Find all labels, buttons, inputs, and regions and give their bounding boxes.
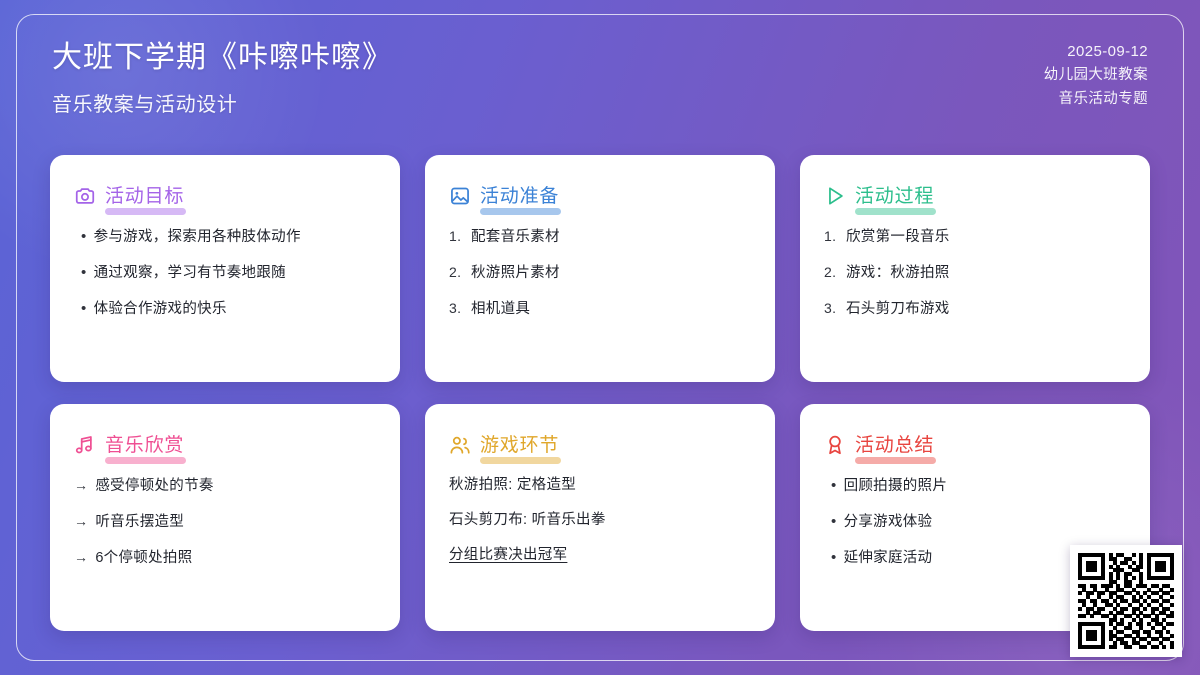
card-item-list: 秋游拍照: 定格造型石头剪刀布: 听音乐出拳分组比赛决出冠军 — [449, 475, 751, 566]
qr-code-icon — [1078, 553, 1174, 649]
list-item: →听音乐摆造型 — [74, 511, 376, 534]
list-item-text: 秋游照片素材 — [471, 263, 560, 285]
music-note-icon — [74, 434, 96, 456]
card-item-list: •参与游戏，探索用各种肢体动作•通过观察，学习有节奏地跟随•体验合作游戏的快乐 — [74, 226, 376, 320]
list-item: 2.秋游照片素材 — [449, 262, 751, 285]
award-icon — [824, 434, 846, 456]
list-marker: • — [74, 226, 87, 249]
camera-icon — [74, 185, 96, 207]
list-marker: 1. — [449, 226, 464, 247]
list-item: •回顾拍摄的照片 — [824, 475, 1126, 498]
list-item: 1.配套音乐素材 — [449, 226, 751, 249]
card-item-list: 1.配套音乐素材2.秋游照片素材3.相机道具 — [449, 226, 751, 320]
page-title: 大班下学期《咔嚓咔嚓》 — [52, 40, 393, 77]
image-icon — [449, 185, 471, 207]
list-item-text: 通过观察，学习有节奏地跟随 — [94, 263, 286, 285]
list-item: •分享游戏体验 — [824, 511, 1126, 534]
list-item: 分组比赛决出冠军 — [449, 545, 751, 567]
list-marker: 3. — [449, 298, 464, 319]
list-marker: → — [74, 511, 88, 532]
card-header: 游戏环节 — [449, 430, 751, 459]
list-item-text: 体验合作游戏的快乐 — [94, 299, 227, 321]
card-game-section[interactable]: 游戏环节秋游拍照: 定格造型石头剪刀布: 听音乐出拳分组比赛决出冠军 — [425, 404, 775, 631]
list-item-text: 分享游戏体验 — [844, 512, 933, 534]
qr-code-panel[interactable] — [1070, 545, 1182, 657]
card-title: 活动总结 — [855, 430, 934, 459]
card-grid: 活动目标•参与游戏，探索用各种肢体动作•通过观察，学习有节奏地跟随•体验合作游戏… — [50, 155, 1150, 631]
card-header: 活动目标 — [74, 181, 376, 210]
list-item-text: 感受停顿处的节奏 — [95, 476, 213, 498]
list-item-text: 石头剪刀布: 听音乐出拳 — [449, 510, 606, 532]
page-subtitle: 音乐教案与活动设计 — [52, 88, 393, 117]
list-item: 3.相机道具 — [449, 298, 751, 321]
list-item-text: 相机道具 — [471, 299, 530, 321]
list-marker: • — [824, 547, 837, 570]
title-block: 大班下学期《咔嚓咔嚓》 音乐教案与活动设计 — [52, 40, 393, 117]
list-marker: 3. — [824, 298, 839, 319]
list-item-text: 6个停顿处拍照 — [95, 548, 192, 570]
list-marker: • — [74, 262, 87, 285]
list-item-text: 分组比赛决出冠军 — [449, 545, 567, 567]
card-title: 活动准备 — [480, 181, 559, 210]
list-item: →感受停顿处的节奏 — [74, 475, 376, 498]
users-icon — [449, 434, 471, 456]
list-marker: • — [824, 511, 837, 534]
header-meta: 2025-09-12 幼儿园大班教案 音乐活动专题 — [1044, 40, 1148, 111]
list-item: 3.石头剪刀布游戏 — [824, 298, 1126, 321]
card-item-list: 1.欣赏第一段音乐2.游戏：秋游拍照3.石头剪刀布游戏 — [824, 226, 1126, 320]
list-marker: 2. — [449, 262, 464, 283]
header-date: 2025-09-12 — [1044, 40, 1148, 64]
list-item: 石头剪刀布: 听音乐出拳 — [449, 510, 751, 532]
list-marker: • — [824, 475, 837, 498]
list-item: →6个停顿处拍照 — [74, 547, 376, 570]
list-marker: 1. — [824, 226, 839, 247]
list-item-text: 石头剪刀布游戏 — [846, 299, 950, 321]
header-meta-line-2: 幼儿园大班教案 — [1044, 64, 1148, 87]
header-meta-line-3: 音乐活动专题 — [1044, 88, 1148, 111]
list-item: 秋游拍照: 定格造型 — [449, 475, 751, 497]
list-item-text: 参与游戏，探索用各种肢体动作 — [94, 227, 301, 249]
list-marker: → — [74, 547, 88, 568]
list-item: •通过观察，学习有节奏地跟随 — [74, 262, 376, 285]
list-item-text: 秋游拍照: 定格造型 — [449, 475, 576, 497]
card-activity-preparation[interactable]: 活动准备1.配套音乐素材2.秋游照片素材3.相机道具 — [425, 155, 775, 382]
list-item-text: 游戏：秋游拍照 — [846, 263, 950, 285]
card-title: 活动目标 — [105, 181, 184, 210]
card-activity-process[interactable]: 活动过程1.欣赏第一段音乐2.游戏：秋游拍照3.石头剪刀布游戏 — [800, 155, 1150, 382]
slide-root: 大班下学期《咔嚓咔嚓》 音乐教案与活动设计 2025-09-12 幼儿园大班教案… — [0, 0, 1200, 675]
list-item-text: 听音乐摆造型 — [95, 512, 184, 534]
card-title: 活动过程 — [855, 181, 934, 210]
list-item: 2.游戏：秋游拍照 — [824, 262, 1126, 285]
list-marker: • — [74, 298, 87, 321]
card-header: 活动准备 — [449, 181, 751, 210]
card-header: 音乐欣赏 — [74, 430, 376, 459]
list-item-text: 欣赏第一段音乐 — [846, 227, 950, 249]
list-item: •体验合作游戏的快乐 — [74, 298, 376, 321]
list-item: •参与游戏，探索用各种肢体动作 — [74, 226, 376, 249]
card-header: 活动过程 — [824, 181, 1126, 210]
list-marker: 2. — [824, 262, 839, 283]
list-item: 1.欣赏第一段音乐 — [824, 226, 1126, 249]
card-title: 音乐欣赏 — [105, 430, 184, 459]
slide-header: 大班下学期《咔嚓咔嚓》 音乐教案与活动设计 2025-09-12 幼儿园大班教案… — [52, 40, 1148, 117]
card-item-list: →感受停顿处的节奏→听音乐摆造型→6个停顿处拍照 — [74, 475, 376, 569]
list-item-text: 延伸家庭活动 — [844, 548, 933, 570]
card-activity-goals[interactable]: 活动目标•参与游戏，探索用各种肢体动作•通过观察，学习有节奏地跟随•体验合作游戏… — [50, 155, 400, 382]
list-item-text: 回顾拍摄的照片 — [844, 476, 948, 498]
card-title: 游戏环节 — [480, 430, 559, 459]
play-icon — [824, 185, 846, 207]
card-header: 活动总结 — [824, 430, 1126, 459]
list-item-text: 配套音乐素材 — [471, 227, 560, 249]
card-music-appreciation[interactable]: 音乐欣赏→感受停顿处的节奏→听音乐摆造型→6个停顿处拍照 — [50, 404, 400, 631]
list-marker: → — [74, 475, 88, 496]
